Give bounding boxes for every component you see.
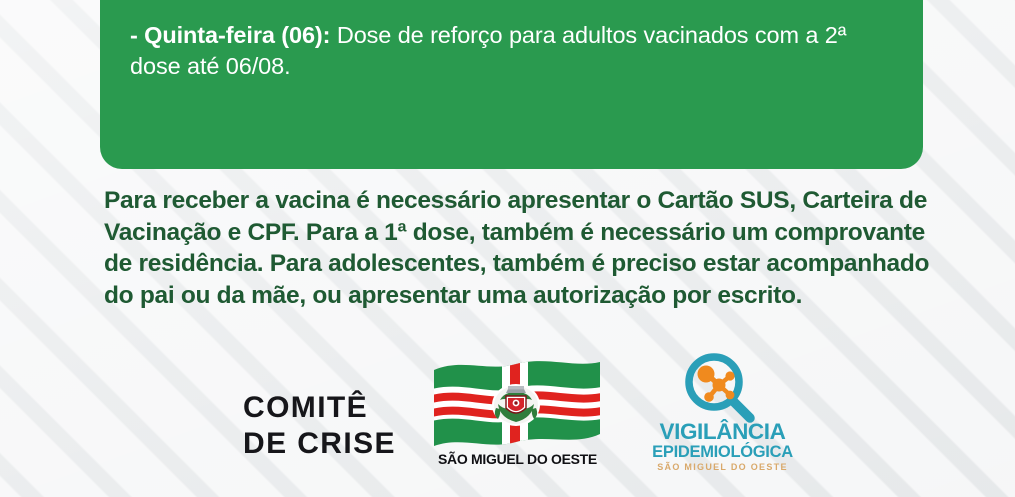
municipal-flag-logo: SÃO MIGUEL DO OESTE (420, 356, 615, 484)
coat-of-arms-icon (494, 386, 538, 424)
requirements-paragraph: Para receber a vacina é necessário apres… (104, 185, 934, 311)
magnifying-glass-virus-icon (678, 352, 768, 424)
flag-caption: SÃO MIGUEL DO OESTE (420, 451, 615, 467)
vigilancia-line-1: VIGILÂNCIA (645, 420, 800, 444)
vaccination-announcement-poster: - Quinta-feira (06): Dose de reforço par… (0, 0, 1015, 497)
sao-miguel-do-oeste-flag-icon (428, 356, 606, 452)
comite-line-2: DE CRISE (243, 426, 396, 462)
vigilancia-epidemiologica-logo: VIGILÂNCIA EPIDEMIOLÓGICA SÃO MIGUEL DO … (645, 352, 800, 487)
footer-logos: COMITÊ DE CRISE (0, 348, 1015, 497)
schedule-notice-text: - Quinta-feira (06): Dose de reforço par… (130, 20, 890, 82)
comite-line-1: COMITÊ (243, 390, 396, 426)
schedule-notice-card: - Quinta-feira (06): Dose de reforço par… (100, 0, 923, 169)
vigilancia-line-2: EPIDEMIOLÓGICA (645, 443, 800, 461)
vigilancia-line-3: SÃO MIGUEL DO OESTE (645, 462, 800, 473)
virus-molecule-icon (698, 366, 735, 402)
schedule-notice-day-label: - Quinta-feira (06): (130, 22, 330, 48)
comite-de-crise-wordmark: COMITÊ DE CRISE (243, 390, 396, 462)
